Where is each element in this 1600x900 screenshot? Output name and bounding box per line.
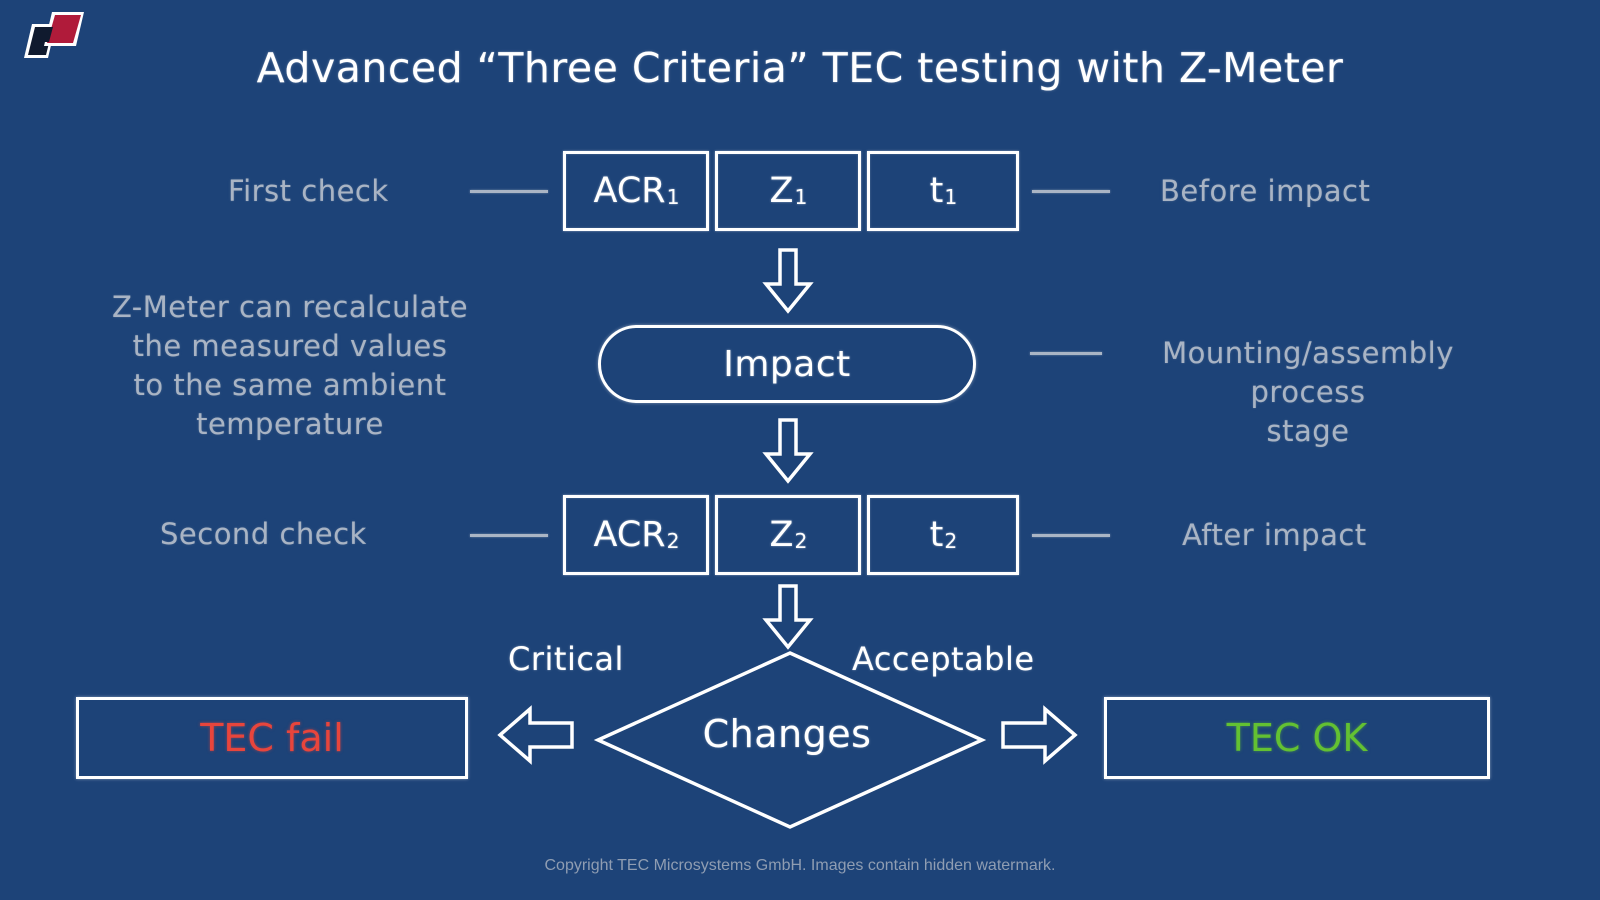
down-arrow-icon [762, 248, 814, 314]
measurement-subscript: 2 [667, 529, 680, 553]
first-check-connector [470, 190, 548, 193]
arrow-to-tec-ok [1000, 704, 1078, 766]
tec-fail-label: TEC fail [200, 716, 344, 760]
first-check-label: First check [228, 172, 443, 211]
after-impact-label: After impact [1182, 516, 1502, 555]
measurement-box-z2: Z2 [715, 495, 861, 575]
measurement-box-acr2: ACR2 [563, 495, 709, 575]
second-check-label: Second check [160, 515, 430, 554]
measurement-base: Z [770, 171, 794, 211]
arrow-first-check-to-impact [762, 248, 814, 314]
measurement-base: t [930, 171, 944, 211]
down-arrow-icon [762, 584, 814, 650]
second-check-boxes: ACR2 Z2 t2 [563, 495, 1019, 575]
branch-label-acceptable: Acceptable [852, 640, 1035, 678]
result-box-tec-ok: TEC OK [1104, 697, 1490, 779]
note-line-3: to the same ambient [55, 366, 525, 405]
mounting-line-2: process [1118, 373, 1498, 412]
impact-node: Impact [598, 325, 976, 403]
arrow-impact-to-second-check [762, 418, 814, 484]
left-arrow-icon [497, 704, 575, 766]
note-line-2: the measured values [55, 327, 525, 366]
right-arrow-icon [1000, 704, 1078, 766]
measurement-box-t1: t1 [867, 151, 1019, 231]
measurement-base: Z [770, 515, 794, 555]
arrow-to-tec-fail [497, 704, 575, 766]
mounting-line-3: stage [1118, 412, 1498, 451]
impact-connector [1030, 352, 1102, 355]
after-impact-connector [1032, 534, 1110, 537]
measurement-box-acr1: ACR1 [563, 151, 709, 231]
measurement-subscript: 1 [944, 185, 957, 209]
before-impact-label: Before impact [1160, 172, 1500, 211]
tec-ok-label: TEC OK [1227, 716, 1368, 760]
measurement-subscript: 2 [795, 529, 808, 553]
measurement-base: ACR [594, 515, 666, 555]
impact-label: Impact [723, 344, 851, 385]
measurement-subscript: 1 [667, 185, 680, 209]
measurement-box-z1: Z1 [715, 151, 861, 231]
second-check-connector [470, 534, 548, 537]
first-check-boxes: ACR1 Z1 t1 [563, 151, 1019, 231]
branch-label-critical: Critical [508, 640, 624, 678]
mounting-assembly-label: Mounting/assembly process stage [1118, 334, 1498, 451]
before-impact-connector [1032, 190, 1110, 193]
arrow-second-check-to-decision [762, 584, 814, 650]
measurement-base: ACR [594, 171, 666, 211]
copyright-footer: Copyright TEC Microsystems GmbH. Images … [0, 857, 1600, 875]
page-title: Advanced “Three Criteria” TEC testing wi… [0, 48, 1600, 89]
measurement-box-t2: t2 [867, 495, 1019, 575]
measurement-subscript: 1 [795, 185, 808, 209]
mounting-line-1: Mounting/assembly [1118, 334, 1498, 373]
down-arrow-icon [762, 418, 814, 484]
result-box-tec-fail: TEC fail [76, 697, 468, 779]
zmeter-recalculation-note: Z-Meter can recalculate the measured val… [55, 288, 525, 445]
note-line-1: Z-Meter can recalculate [55, 288, 525, 327]
note-line-4: temperature [55, 405, 525, 444]
measurement-subscript: 2 [944, 529, 957, 553]
decision-label: Changes [612, 712, 962, 756]
measurement-base: t [930, 515, 944, 555]
